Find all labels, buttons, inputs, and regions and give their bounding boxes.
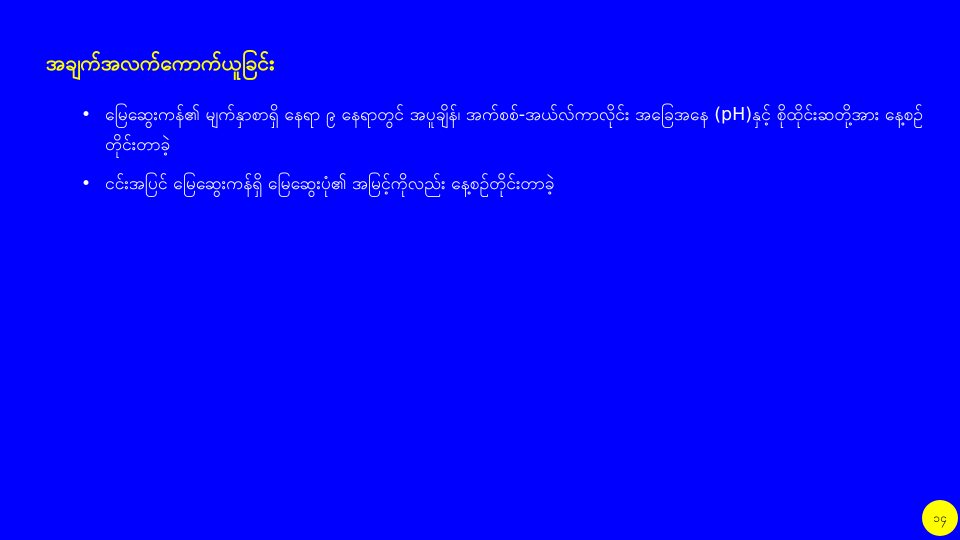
list-item-text: မြေဆွေးကန်၏ မျက်နှာစာရှိ နေရာ ၉ နေရာတွင်… <box>105 100 923 160</box>
page-number-badge: ၁၄ <box>922 500 958 536</box>
list-item: • ငင်းအပြင် မြေဆွေးကန်ရှိ မြေဆွေးပုံ၏ အမ… <box>78 169 923 199</box>
bullet-list: • မြေဆွေးကန်၏ မျက်နှာစာရှိ နေရာ ၉ နေရာတွ… <box>78 100 923 208</box>
bullet-point-icon: • <box>78 100 105 130</box>
list-item: • မြေဆွေးကန်၏ မျက်နှာစာရှိ နေရာ ၉ နေရာတွ… <box>78 100 923 160</box>
list-item-text: ငင်းအပြင် မြေဆွေးကန်ရှိ မြေဆွေးပုံ၏ အမြင… <box>105 169 923 199</box>
bullet-point-icon: • <box>78 169 105 199</box>
slide-title: အချက်အလက်ကောက်ယူခြင်း <box>46 50 906 76</box>
presentation-slide: အချက်အလက်ကောက်ယူခြင်း • မြေဆွေးကန်၏ မျက်… <box>0 0 960 540</box>
